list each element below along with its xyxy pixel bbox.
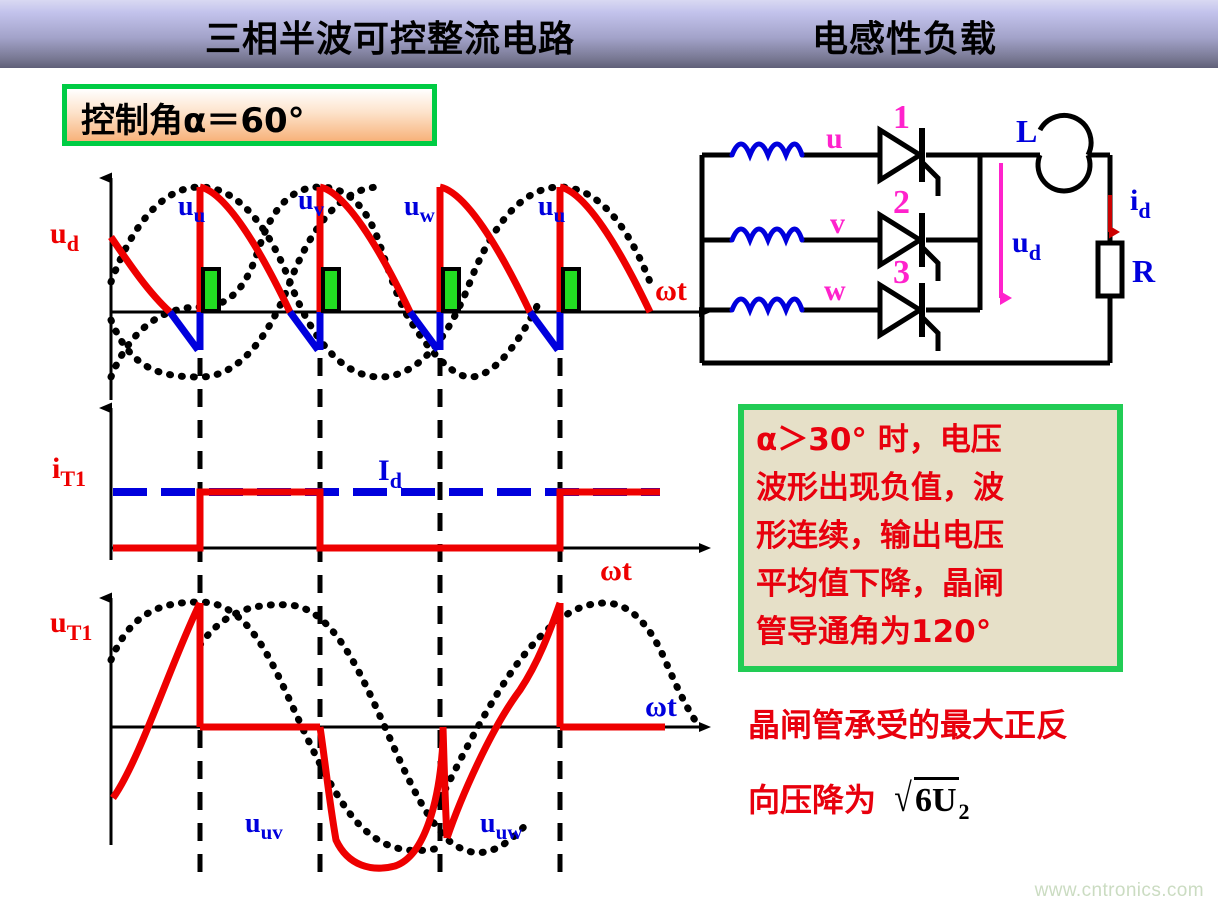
plot-ut1-x-label: ωt [645,690,677,723]
plot-it1: iT1 Id ωt [52,408,700,587]
phase-label-v: v [830,207,845,240]
plot-ud-x-label: ωt [655,274,687,307]
note-line-2: 波形出现负值，波 [756,464,1107,512]
waveform-plots: ud ωt uu uv uw uu iT1 Id [0,0,720,914]
phase-label-uw: uw [404,191,436,227]
ud-blue-negative-segments [170,312,560,350]
inductor-symbol [1038,115,1091,191]
radicand: 6U [914,777,959,820]
id-level-label: Id [378,454,402,493]
plot-ud: ud ωt uu uv uw uu [50,178,700,400]
statement-line-2: 向压降为 [748,775,876,821]
watermark: www.cntronics.com [1035,880,1204,902]
segment-label-uuv: uuv [245,808,283,844]
phase-label-w: w [824,274,846,307]
commutation-guide-lines [200,358,560,880]
circuit-diagram: u v w 1 2 3 L R ud id [690,100,1200,390]
plot-ut1: uT1 ωt uuv uuw [50,598,700,868]
note-line-3: 形连续，输出电压 [756,512,1107,560]
thyristor-label-2: 2 [893,184,910,221]
sqrt6-u2-formula: √6U2 [892,774,970,825]
plot-ut1-y-label: uT1 [50,606,92,645]
inductor-label: L [1016,113,1037,149]
statement-line-2-row: 向压降为 √6U2 [748,774,1208,825]
resistor-symbol [1098,243,1122,296]
radical-sign: √6U2 [892,774,970,825]
id-label: id [1130,184,1151,223]
resistor-label: R [1132,253,1156,289]
plot-ud-y-label: ud [50,217,79,256]
thyristor-label-1: 1 [893,100,910,136]
ud-label: ud [1012,226,1041,265]
phase-label-u: u [826,122,843,155]
statement-line-1: 晶闸管承受的最大正反 [748,700,1208,746]
it1-current-waveform [113,492,660,548]
thyristor-label-3: 3 [893,254,910,291]
radicand-subscript: 2 [959,799,970,824]
thyristor-3 [880,283,938,351]
explanation-note-box: α＞30° 时，电压 波形出现负值，波 形连续，输出电压 平均值下降，晶闸 管导… [738,404,1123,672]
note-line-1: α＞30° 时，电压 [756,416,1107,464]
page-subtitle: 电感性负载 [812,10,997,62]
peak-voltage-statement: 晶闸管承受的最大正反 向压降为 √6U2 [748,700,1208,825]
note-line-4: 平均值下降，晶闸 [756,560,1107,608]
transformer-windings [732,144,802,310]
note-line-5: 管导通角为120° [756,608,1107,656]
segment-label-uuw: uuw [480,808,523,844]
plot-it1-x-label: ωt [600,554,632,587]
plot-it1-y-label: iT1 [52,452,86,491]
